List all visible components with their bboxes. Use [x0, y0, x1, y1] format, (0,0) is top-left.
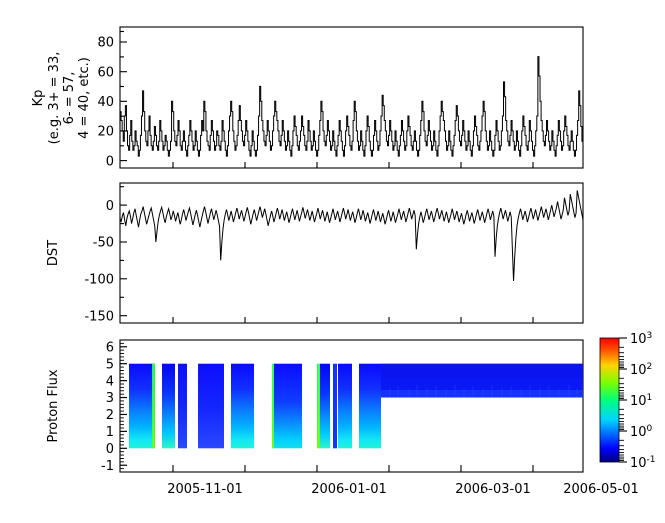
figure-canvas: 0 20 40 60 80 Kp (e.g. 3+ = 33, 6- = 57,…: [0, 0, 665, 523]
dst-ytick-0: 0: [106, 199, 114, 214]
dst-y-axis-label: DST: [46, 240, 61, 266]
colorbar-gradient: [600, 338, 619, 462]
xtick-2006-05-01: 2006-05-01: [563, 482, 639, 497]
xtick-2006-03-01: 2006-03-01: [455, 482, 531, 497]
pf-ytick-1: 1: [106, 425, 114, 440]
cb-base-1: 10: [630, 394, 647, 409]
cb-base-m1: 10: [630, 456, 647, 471]
proton-flux-panel: 6 5 4 3 2 1 0 -1 Proton Flux 2005-11-01 …: [46, 340, 639, 497]
pf-ytick-5: 5: [106, 357, 114, 372]
kp-y-ticklabels: 0 20 40 60 80: [97, 36, 114, 170]
dst-ytick-m150: -150: [84, 309, 114, 324]
dst-panel: 0 -50 -100 -150 DST: [46, 183, 583, 324]
kp-ytick-20: 20: [97, 125, 114, 140]
pf-ytick-0: 0: [106, 442, 114, 457]
kp-plot-frame: [120, 27, 583, 168]
colorbar-ticks: [619, 338, 627, 462]
kp-ytick-40: 40: [97, 95, 114, 110]
pf-ytick-m1: -1: [101, 459, 114, 474]
dst-ytick-m100: -100: [84, 273, 114, 288]
pf-ytick-4: 4: [106, 374, 114, 389]
kp-ylabel-line1: Kp: [31, 90, 46, 107]
svg-text:102: 102: [630, 362, 652, 378]
kp-panel: 0 20 40 60 80 Kp (e.g. 3+ = 33, 6- = 57,…: [31, 27, 583, 169]
xtick-2005-11-01: 2005-11-01: [167, 482, 243, 497]
xtick-2006-01-01: 2006-01-01: [311, 482, 387, 497]
dst-y-ticklabels: 0 -50 -100 -150: [84, 199, 114, 325]
kp-y-axis-label: Kp (e.g. 3+ = 33, 6- = 57, 4 = 40, etc.): [31, 52, 92, 145]
dst-ytick-m50: -50: [93, 236, 114, 251]
pf-ytick-3: 3: [106, 391, 114, 406]
cb-exp-m1: -1: [647, 455, 656, 465]
svg-text:101: 101: [630, 393, 652, 409]
kp-ylabel-line4: 4 = 40, etc.): [77, 57, 92, 139]
proton-flux-y-ticklabels: 6 5 4 3 2 1 0 -1: [101, 341, 114, 474]
cb-exp-3: 3: [647, 331, 653, 341]
kp-ytick-80: 80: [97, 36, 114, 51]
colorbar-ticklabels: 103 102 101 100 10-1: [630, 331, 656, 471]
cb-base-2: 10: [630, 363, 647, 378]
dst-plot-frame: [120, 183, 583, 323]
pf-ytick-2: 2: [106, 408, 114, 423]
svg-text:103: 103: [630, 331, 652, 347]
proton-flux-y-axis-label: Proton Flux: [46, 369, 61, 442]
time-axis-labels: 2005-11-01 2006-01-01 2006-03-01 2006-05…: [167, 482, 639, 497]
kp-ytick-60: 60: [97, 65, 114, 80]
svg-text:10-1: 10-1: [630, 455, 656, 471]
cb-base-0: 10: [630, 425, 647, 440]
kp-ylabel-line3: 6- = 57,: [62, 72, 77, 125]
flux-colorbar: 103 102 101 100 10-1: [600, 331, 656, 471]
cb-base-3: 10: [630, 332, 647, 347]
cb-exp-2: 2: [647, 362, 653, 372]
pf-ytick-6: 6: [106, 341, 114, 356]
plot-svg: 0 20 40 60 80 Kp (e.g. 3+ = 33, 6- = 57,…: [0, 0, 665, 523]
cb-exp-1: 1: [647, 393, 653, 403]
cb-exp-0: 0: [647, 424, 653, 434]
svg-text:100: 100: [630, 424, 653, 440]
kp-ylabel-line2: (e.g. 3+ = 33,: [47, 52, 62, 145]
kp-ytick-0: 0: [106, 154, 114, 169]
